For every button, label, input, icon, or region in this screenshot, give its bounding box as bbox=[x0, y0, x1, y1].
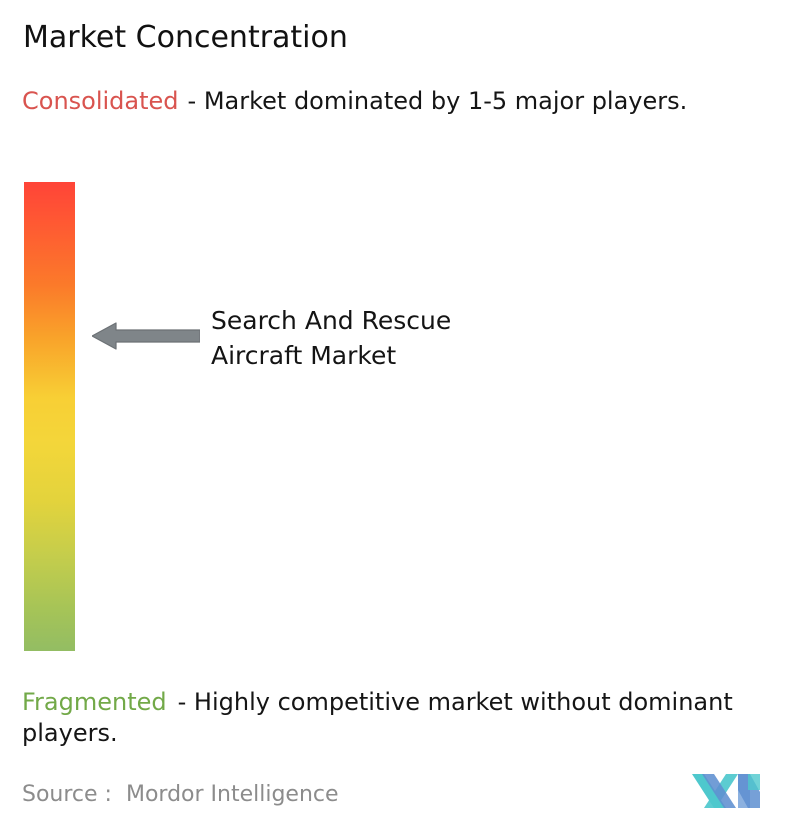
arrow-left-icon bbox=[92, 320, 200, 352]
mordor-intelligence-logo bbox=[692, 768, 760, 810]
callout-label: Search And Rescue Aircraft Market bbox=[211, 303, 541, 373]
source-value: Mordor Intelligence bbox=[126, 782, 339, 807]
mordor-logo-icon bbox=[692, 768, 760, 810]
market-concentration-infographic: Market Concentration Consolidated- Marke… bbox=[0, 0, 796, 834]
legend-consolidated-description: - Market dominated by 1-5 major players. bbox=[188, 87, 688, 115]
callout-arrow bbox=[92, 320, 200, 352]
legend-fragmented-keyword: Fragmented bbox=[22, 688, 167, 716]
callout-label-line2: Aircraft Market bbox=[211, 338, 541, 373]
callout-label-line1: Search And Rescue bbox=[211, 306, 451, 335]
source-line: Source : Mordor Intelligence bbox=[22, 781, 339, 809]
market-concentration-gradient-bar bbox=[24, 182, 75, 651]
page-title: Market Concentration bbox=[23, 19, 348, 57]
legend-fragmented: Fragmented- Highly competitive market wi… bbox=[22, 687, 792, 749]
legend-consolidated-keyword: Consolidated bbox=[22, 87, 179, 115]
source-label: Source : bbox=[22, 782, 112, 807]
legend-consolidated: Consolidated- Market dominated by 1-5 ma… bbox=[22, 86, 782, 117]
